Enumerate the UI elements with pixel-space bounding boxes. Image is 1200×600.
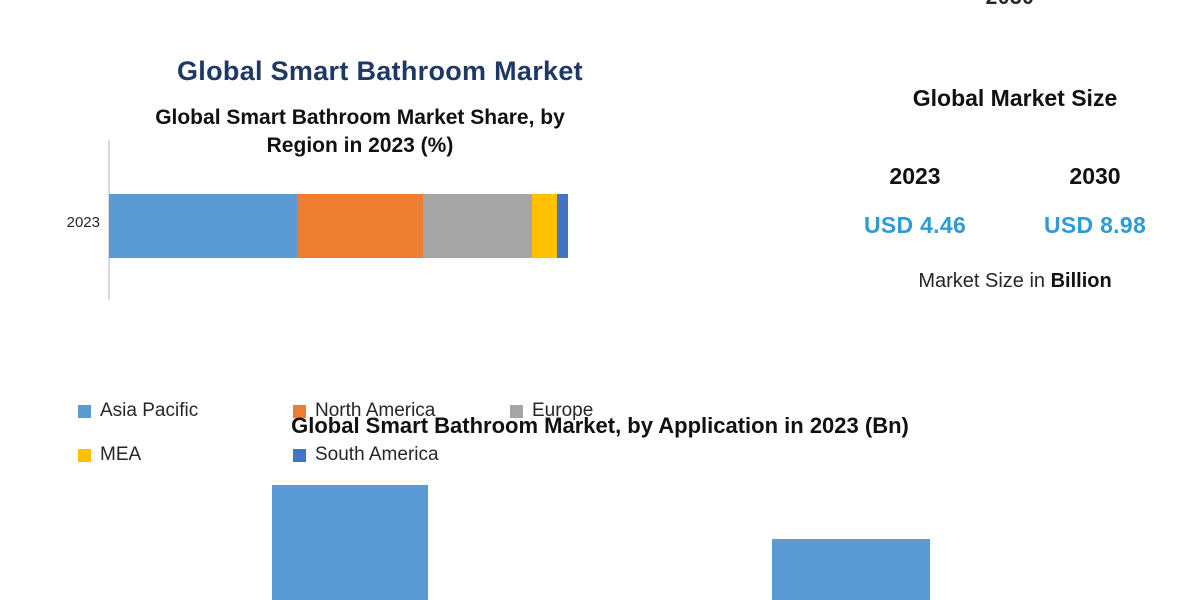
market-size-value-2023: USD 4.46	[840, 212, 990, 239]
market-size-column-2030: 2030 USD 8.98	[1020, 163, 1170, 239]
bar-segment-europe[interactable]	[423, 194, 532, 258]
market-size-year-2030: 2030	[1020, 163, 1170, 190]
market-size-unit-value: Billion	[1051, 270, 1112, 292]
application-chart-title: Global Smart Bathroom Market, by Applica…	[240, 413, 960, 439]
application-chart: Global Smart Bathroom Market, by Applica…	[0, 405, 1200, 600]
page-title: Global Smart Bathroom Market	[60, 56, 700, 87]
region-share-title-line2: Region in 2023 (%)	[267, 134, 454, 157]
region-share-chart-title: Global Smart Bathroom Market Share, by R…	[80, 104, 640, 161]
bar-segment-south-america[interactable]	[557, 194, 568, 258]
bar-segment-asia-pacific[interactable]	[109, 194, 297, 258]
application-bar-2[interactable]	[772, 539, 930, 600]
bar-segment-north-america[interactable]	[297, 194, 423, 258]
market-size-column-2023: 2023 USD 4.46	[840, 163, 990, 239]
region-share-chart: Global Smart Bathroom Market Share, by R…	[0, 100, 700, 385]
application-bar-1[interactable]	[272, 485, 428, 600]
global-market-size-heading: Global Market Size	[840, 85, 1190, 112]
global-market-size-panel: Global Market Size 2023 USD 4.46 2030 US…	[840, 85, 1190, 305]
region-share-title-line1: Global Smart Bathroom Market Share, by	[155, 106, 565, 129]
stacked-bar-2023	[109, 194, 568, 258]
axis-category-label-2023: 2023	[32, 214, 100, 231]
market-size-year-2023: 2023	[840, 163, 990, 190]
clipped-top-year-label: 2030	[930, 0, 1090, 10]
bar-segment-mea[interactable]	[532, 194, 557, 258]
market-size-unit-note: Market Size in Billion	[840, 270, 1190, 293]
market-size-unit-prefix: Market Size in	[918, 270, 1050, 292]
market-size-value-2030: USD 8.98	[1020, 212, 1170, 239]
